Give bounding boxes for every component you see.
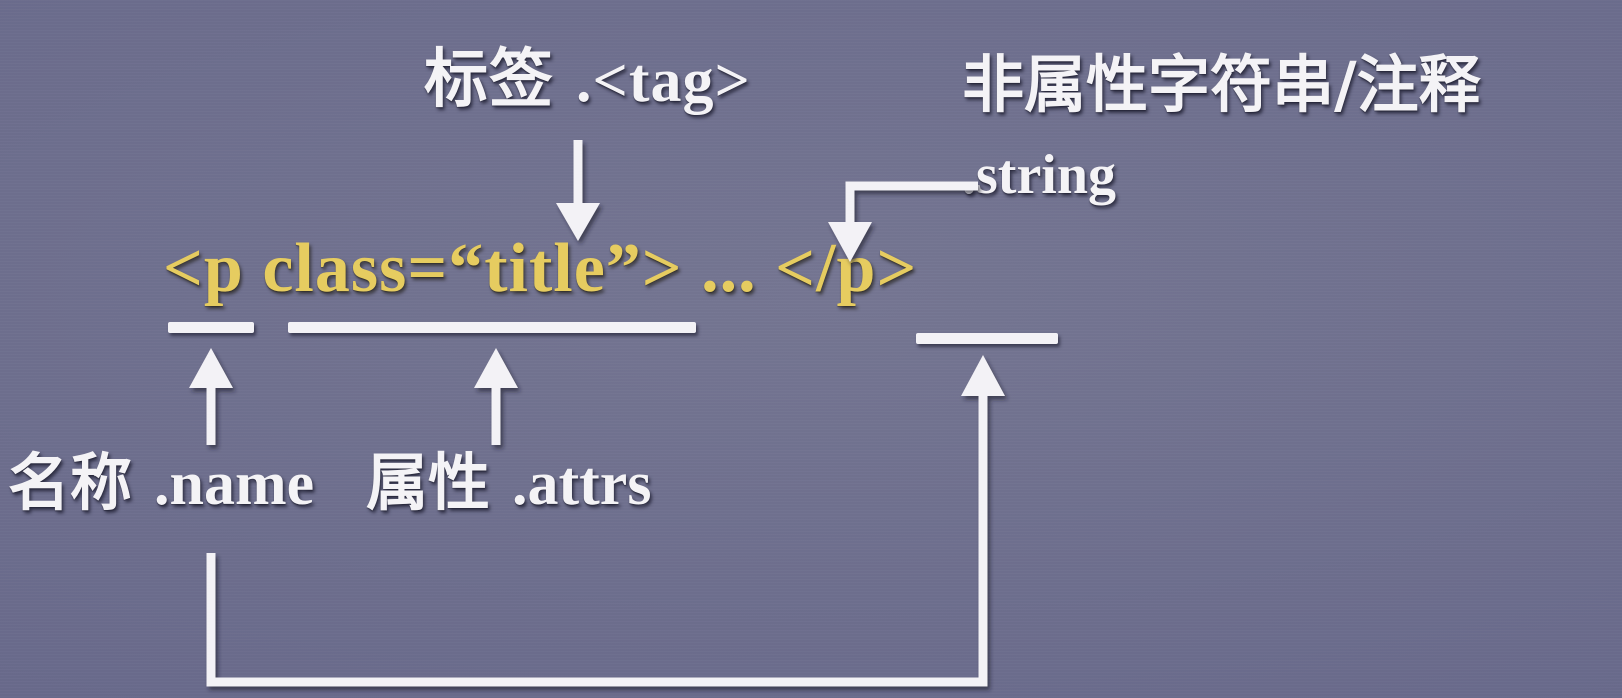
name-to-close-tag-bracket bbox=[211, 355, 1005, 682]
label-attrs: 属性.attrs bbox=[366, 452, 651, 515]
label-tag-cn: 标签 bbox=[424, 43, 554, 117]
underline-close-tag bbox=[916, 333, 1058, 344]
label-name: 名称.name bbox=[8, 452, 314, 515]
label-name-api: .name bbox=[154, 450, 314, 518]
label-string-cn: 非属性字符串/注释 bbox=[962, 54, 1481, 116]
label-tag: 标签.<tag> bbox=[424, 48, 751, 112]
tag-arrow-icon bbox=[556, 140, 600, 241]
underline-attrs bbox=[288, 322, 696, 333]
attrs-arrow-icon bbox=[474, 348, 518, 445]
label-attrs-api: .attrs bbox=[512, 450, 651, 518]
label-attrs-cn: 属性 bbox=[366, 446, 490, 519]
label-name-cn: 名称 bbox=[8, 446, 132, 519]
code-snippet: <p class=“title”> ... </p> bbox=[163, 234, 917, 304]
underline-name bbox=[168, 322, 254, 333]
name-arrow-icon bbox=[189, 348, 233, 445]
slide-canvas: 标签.<tag> 非属性字符串/注释 .string <p class=“tit… bbox=[0, 0, 1622, 698]
label-tag-api: .<tag> bbox=[576, 47, 751, 115]
label-string-api: .string bbox=[962, 147, 1116, 203]
